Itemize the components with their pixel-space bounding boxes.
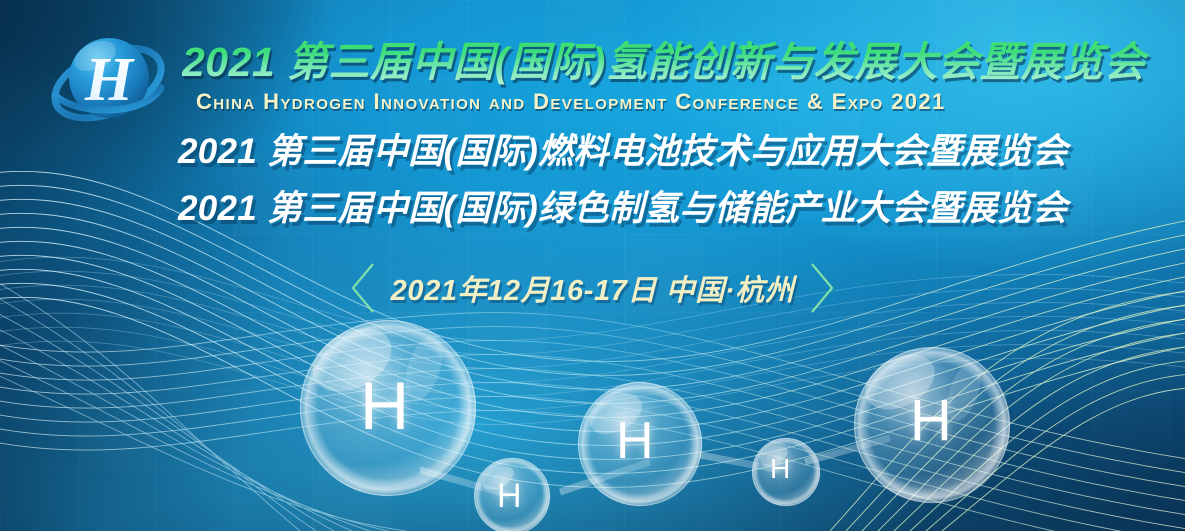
headline-english: China Hydrogen Innovation and Developmen… [196, 88, 1185, 116]
conference-banner: H H H H H [0, 0, 1185, 531]
subtitle-green-hydrogen: 2021 第三届中国(国际)绿色制氢与储能产业大会暨展览会 [178, 186, 1185, 232]
logo-letter-h: H [84, 46, 135, 114]
headline-chinese: 2021 第三届中国(国际)氢能创新与发展大会暨展览会 [182, 36, 1182, 88]
subtitle-fuel-cell: 2021 第三届中国(国际)燃料电池技术与应用大会暨展览会 [178, 129, 1185, 175]
bubble-atom-2 [474, 458, 550, 531]
bubble-atom-5 [854, 343, 1010, 503]
hydrogen-logo: H [47, 26, 169, 134]
bubble-atom-1 [300, 316, 476, 496]
bubble-atom-4 [752, 438, 820, 506]
bubble-atom-3 [578, 382, 702, 506]
